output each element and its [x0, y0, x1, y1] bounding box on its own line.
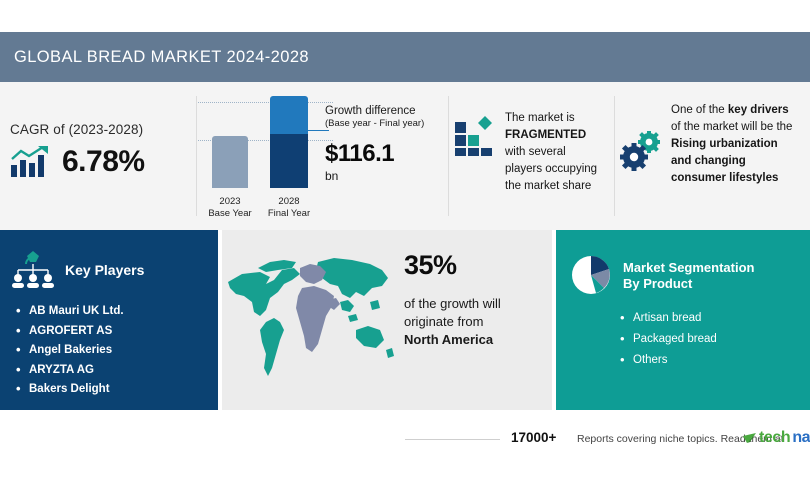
growth-difference-value: $116.1 [325, 140, 445, 168]
pie-chart-icon [570, 254, 612, 296]
bar-2023 [212, 136, 248, 188]
region-growth-panel: 35% of the growth will originate from No… [222, 230, 552, 410]
fragmentation-text: The market is FRAGMENTED with several pl… [505, 104, 597, 195]
frag-line-5: the market share [505, 180, 591, 192]
growth-difference-label: Growth difference [325, 104, 445, 118]
list-item: AB Mauri UK Ltd. [16, 302, 218, 322]
world-map-icon [222, 244, 397, 396]
cagr-label: CAGR of (2023-2028) [10, 122, 195, 137]
list-item: Packaged bread [620, 329, 810, 350]
segmentation-title: Market Segmentation By Product [623, 254, 773, 292]
footer: 17000+ Reports covering niche topics. Re… [0, 410, 810, 480]
key-players-title: Key Players [65, 262, 144, 278]
middle-band: Key Players AB Mauri UK Ltd. AGROFERT AS… [0, 230, 810, 410]
bar-2028-base-segment [270, 134, 308, 188]
bar-chart-growth-icon [10, 145, 52, 179]
segmentation-header: Market Segmentation By Product [556, 230, 810, 296]
region-line-3: North America [404, 332, 493, 347]
drv-line-3: Rising urbanization [671, 138, 778, 150]
technavio-logo-part2: navi [792, 429, 810, 447]
list-item: Artisan bread [620, 308, 810, 329]
bar-label-2028-year: 2028 [258, 196, 320, 208]
key-players-header: Key Players [0, 230, 218, 290]
org-network-icon [10, 250, 56, 290]
key-players-list: AB Mauri UK Ltd. AGROFERT AS Angel Baker… [0, 302, 218, 400]
growth-bar-chart: 2023 Base Year 2028 Final Year [198, 96, 333, 220]
drv-line-5: consumer lifestyles [671, 172, 778, 184]
region-growth-text: of the growth will originate from North … [404, 295, 544, 349]
growth-difference-block: Growth difference (Base year - Final yea… [325, 104, 445, 183]
region-line-2: originate from [404, 314, 483, 329]
frag-line-2: FRAGMENTED [505, 129, 586, 141]
region-line-1: of the growth will [404, 296, 501, 311]
drv-line-2: of the market will be the [671, 121, 792, 133]
key-drivers-text: One of the key drivers of the market wil… [671, 100, 792, 187]
cagr-block: CAGR of (2023-2028) 6.78% [10, 122, 195, 179]
list-item: Bakers Delight [16, 380, 218, 400]
frag-line-3: with several [505, 146, 566, 158]
list-item: AGROFERT AS [16, 322, 218, 342]
technavio-logo[interactable]: technavi [742, 429, 810, 447]
cagr-value: 6.78% [62, 145, 145, 179]
technavio-arrow-icon [742, 431, 757, 446]
region-growth-block: 35% of the growth will originate from No… [404, 250, 544, 349]
callout-arrow-icon [301, 126, 307, 134]
technavio-logo-part1: tech [759, 429, 790, 447]
divider-1 [196, 96, 197, 216]
top-stats-strip: CAGR of (2023-2028) 6.78% [0, 82, 810, 230]
drv-line-1b: key drivers [728, 104, 789, 116]
reports-count: 17000+ [511, 430, 556, 445]
bar-label-2028-sub: Final Year [258, 208, 320, 220]
key-drivers-block: One of the key drivers of the market wil… [620, 100, 810, 187]
list-item: Angel Bakeries [16, 341, 218, 361]
gridline-top [198, 102, 333, 103]
segmentation-list: Artisan bread Packaged bread Others [556, 308, 810, 371]
growth-difference-unit: bn [325, 169, 445, 183]
page-title: GLOBAL BREAD MARKET 2024-2028 [0, 48, 309, 67]
bar-2028 [270, 96, 308, 188]
gears-icon [620, 100, 664, 187]
bar-label-2023-year: 2023 [199, 196, 261, 208]
region-growth-percent: 35% [404, 250, 544, 281]
drv-line-1a: One of the [671, 104, 728, 116]
bar-label-2023-sub: Base Year [199, 208, 261, 220]
footer-divider [405, 439, 500, 440]
growth-difference-sublabel: (Base year - Final year) [325, 118, 445, 130]
bar-label-2023: 2023 Base Year [199, 196, 261, 220]
infographic-page: GLOBAL BREAD MARKET 2024-2028 CAGR of (2… [0, 0, 810, 480]
header-bar: GLOBAL BREAD MARKET 2024-2028 [0, 32, 810, 82]
list-item: ARYZTA AG [16, 361, 218, 381]
segmentation-panel: Market Segmentation By Product Artisan b… [556, 230, 810, 410]
divider-2 [448, 96, 449, 216]
bar-label-2028: 2028 Final Year [258, 196, 320, 220]
callout-line [305, 130, 329, 131]
frag-line-1: The market is [505, 112, 575, 124]
key-players-panel: Key Players AB Mauri UK Ltd. AGROFERT AS… [0, 230, 218, 410]
frag-line-4: players occupying [505, 163, 597, 175]
market-fragmentation-block: The market is FRAGMENTED with several pl… [455, 104, 615, 195]
drv-line-4: and changing [671, 155, 746, 167]
list-item: Others [620, 350, 810, 371]
fragmented-squares-icon [455, 104, 497, 195]
